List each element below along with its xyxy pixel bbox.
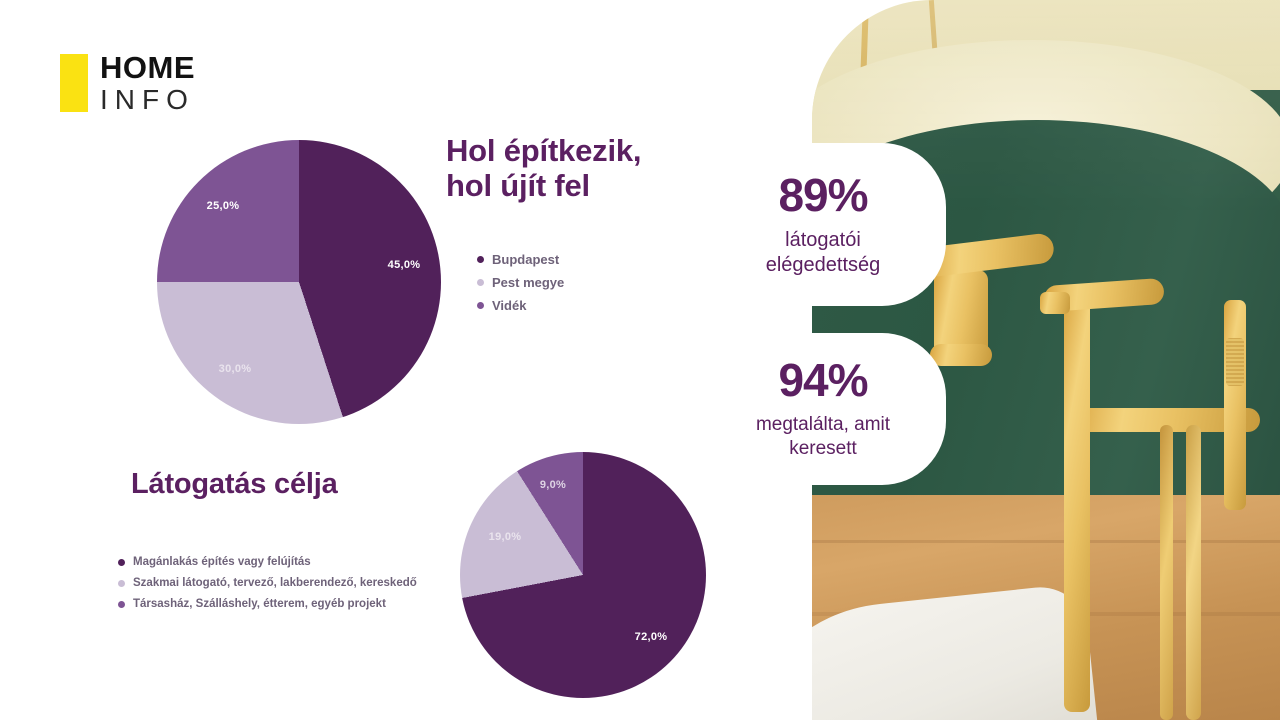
legend-dot-icon [477, 302, 484, 309]
legend-dot-icon [477, 279, 484, 286]
legend-dot-icon [477, 256, 484, 263]
legend-item-private-home[interactable]: Magánlakás építés vagy felújítás [118, 556, 417, 568]
stat-value: 89% [778, 172, 867, 218]
legend-label: Bupdapest [492, 252, 559, 267]
legend-item-professional[interactable]: Szakmai látogató, tervező, lakberendező,… [118, 577, 417, 589]
page-title-where-building: Hol építkezik, hol újít fel [446, 134, 736, 203]
logo-yellow-square-icon [60, 54, 88, 112]
legend-dot-icon [118, 580, 125, 587]
pie2-slice-label-2: 9,0% [540, 479, 566, 491]
legend-label: Pest megye [492, 275, 564, 290]
title1-line1: Hol építkezik, [446, 134, 736, 169]
pie-chart-1-graphic [157, 140, 441, 424]
legend-label: Szakmai látogató, tervező, lakberendező,… [133, 577, 417, 589]
logo-wordmark: HOME INFO [100, 52, 195, 114]
pie2-slice-label-1: 19,0% [489, 531, 522, 543]
stat-card-satisfaction: 89% látogatói elégedettség [700, 143, 946, 306]
legend-dot-icon [118, 601, 125, 608]
stat-label-line2: keresett [756, 437, 890, 461]
legend-visit-purpose: Magánlakás építés vagy felújítás Szakmai… [118, 556, 417, 619]
stat-card-found-what-searched: 94% megtalálta, amit keresett [700, 333, 946, 485]
logo-secondary-text: INFO [100, 86, 195, 114]
logo-primary-text: HOME [100, 52, 195, 83]
legend-label: Vidék [492, 298, 526, 313]
title1-line2: hol újít fel [446, 169, 736, 204]
brand-logo: HOME INFO [60, 52, 195, 114]
stat-label-line2: elégedettség [766, 253, 881, 278]
page-title-visit-purpose: Látogatás célja [131, 468, 338, 500]
stat-label-line1: látogatói [766, 228, 881, 253]
legend-label: Társasház, Szálláshely, étterem, egyéb p… [133, 598, 386, 610]
legend-dot-icon [118, 559, 125, 566]
infographic-slide: HOME INFO 45,0% 30,0% 25,0% Hol építkezi… [0, 0, 1280, 720]
pie-chart-2-graphic [460, 452, 706, 698]
stat-value: 94% [778, 357, 867, 403]
pie-chart-region-distribution: 45,0% 30,0% 25,0% [157, 140, 441, 424]
legend-region-distribution: Bupdapest Pest megye Vidék [477, 252, 564, 321]
legend-item-other-project[interactable]: Társasház, Szálláshely, étterem, egyéb p… [118, 598, 417, 610]
legend-item-pest-megye[interactable]: Pest megye [477, 275, 564, 290]
stat-label-line1: megtalálta, amit [756, 413, 890, 437]
legend-item-videk[interactable]: Vidék [477, 298, 564, 313]
pie1-slice-label-0: 45,0% [388, 259, 421, 271]
legend-item-bupdapest[interactable]: Bupdapest [477, 252, 564, 267]
pie1-slice-label-1: 30,0% [219, 363, 252, 375]
legend-label: Magánlakás építés vagy felújítás [133, 556, 311, 568]
pie-chart-visit-purpose: 72,0% 19,0% 9,0% [460, 452, 706, 698]
stat-label: megtalálta, amit keresett [756, 413, 890, 461]
pie1-slice-label-2: 25,0% [207, 200, 240, 212]
stat-label: látogatói elégedettség [766, 228, 881, 278]
pie2-slice-label-0: 72,0% [635, 631, 668, 643]
